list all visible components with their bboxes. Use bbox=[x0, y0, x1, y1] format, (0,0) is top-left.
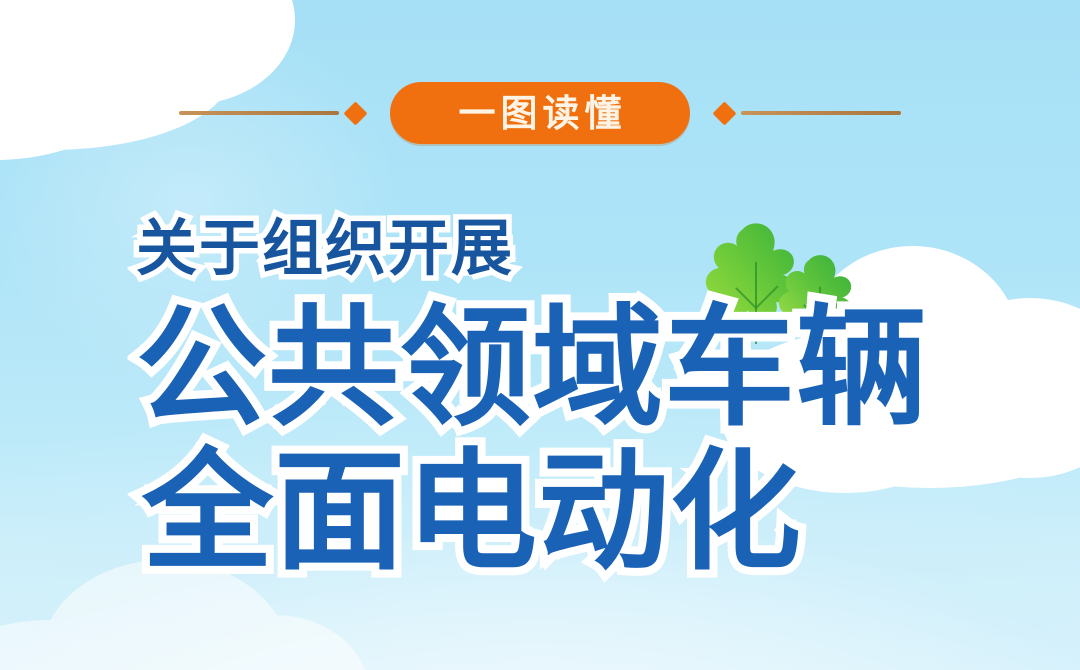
headline-block: 关于组织开展 公共领域车辆 全面电动化 bbox=[136, 214, 996, 583]
decoration-left bbox=[179, 105, 364, 122]
decoration-line-icon bbox=[179, 111, 339, 115]
decoration-line-icon bbox=[741, 111, 901, 115]
header-badge-row: 一图读懂 bbox=[0, 82, 1080, 144]
decoration-right bbox=[716, 105, 901, 122]
headline-title-line-1: 公共领域车辆 bbox=[136, 298, 996, 438]
decoration-diamond-icon bbox=[712, 101, 736, 125]
decoration-diamond-icon bbox=[343, 101, 367, 125]
headline-subtitle: 关于组织开展 bbox=[136, 214, 996, 282]
read-in-one-image-badge[interactable]: 一图读懂 bbox=[390, 82, 690, 144]
poster-canvas: 一图读懂 bbox=[0, 0, 1080, 670]
badge-label: 一图读懂 bbox=[454, 95, 627, 132]
headline-title-line-2: 全面电动化 bbox=[142, 442, 996, 582]
